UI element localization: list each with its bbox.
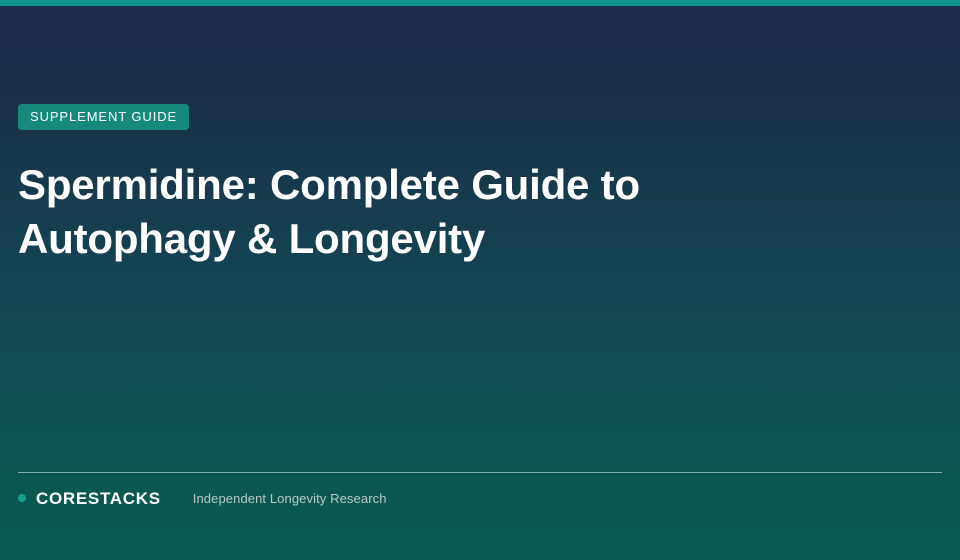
slide-footer: CORESTACKS Independent Longevity Researc… xyxy=(18,472,942,507)
brand-name: CORESTACKS xyxy=(36,490,161,507)
brand-dot-icon xyxy=(18,494,26,502)
title-slide: SUPPLEMENT GUIDE Spermidine: Complete Gu… xyxy=(0,0,960,560)
footer-brand-row: CORESTACKS Independent Longevity Researc… xyxy=(18,490,942,507)
top-accent-bar xyxy=(0,0,960,6)
footer-divider xyxy=(18,472,942,473)
brand-tagline: Independent Longevity Research xyxy=(193,492,387,505)
slide-content: SUPPLEMENT GUIDE Spermidine: Complete Gu… xyxy=(18,104,942,266)
category-badge: SUPPLEMENT GUIDE xyxy=(18,104,189,130)
slide-title: Spermidine: Complete Guide to Autophagy … xyxy=(18,158,698,266)
